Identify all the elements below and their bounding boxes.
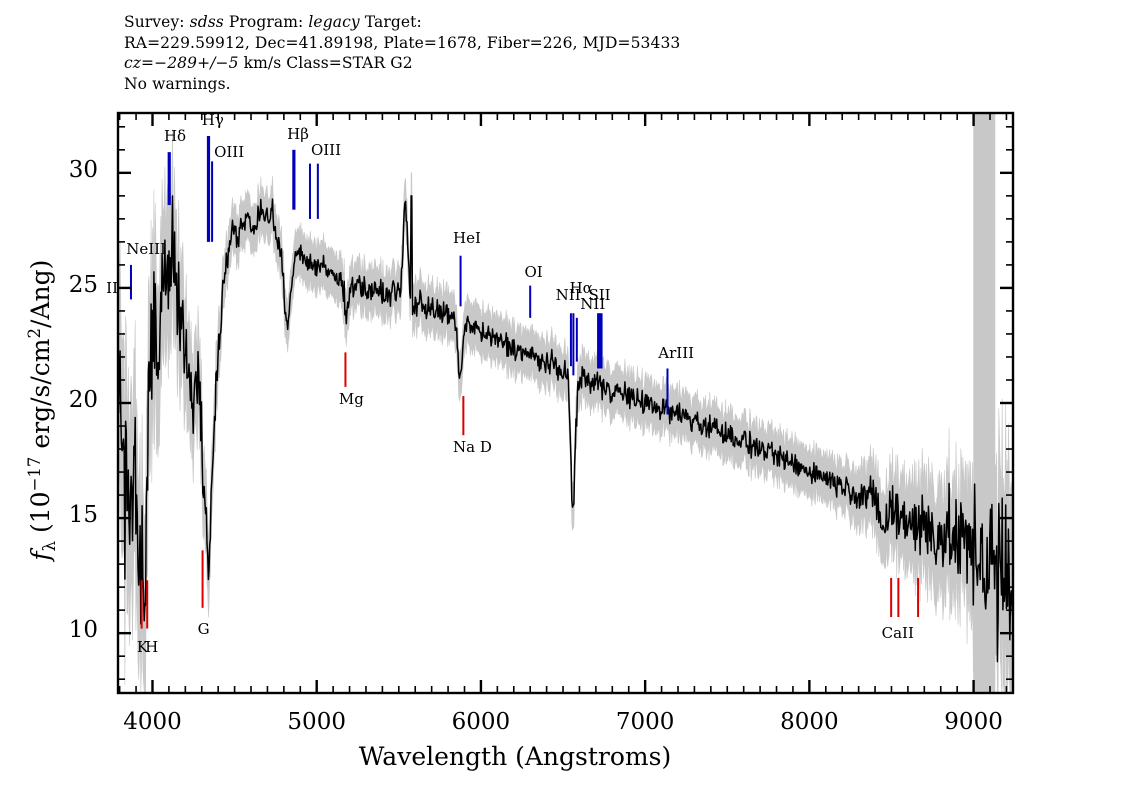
spectral-line-label-NeIII: NeIII [126, 240, 166, 258]
spectral-line-label-Mg: Mg [339, 390, 364, 408]
spectral-line-label-H: Hγ [202, 111, 224, 129]
spectral-line-label-SII: SII [588, 286, 610, 304]
y-tick-label: 15 [0, 502, 98, 528]
spectral-line-label-CaII: CaII [882, 624, 914, 642]
plot-frame [118, 113, 1013, 693]
x-tick-label: 8000 [764, 709, 854, 735]
spectral-line-label-NaD: Na D [453, 438, 492, 456]
x-axis-title: Wavelength (Angstroms) [0, 742, 1030, 771]
spectral-line-label-OIII: OIII [214, 143, 244, 161]
spectral-line-label-OI: OI [524, 263, 542, 281]
spectral-line-label-ArIII: ArIII [658, 344, 694, 362]
spectral-line-label-H: H [145, 638, 158, 656]
x-tick-label: 7000 [600, 709, 690, 735]
spectral-line-label-H: Hδ [164, 127, 186, 145]
y-tick-label: 25 [0, 272, 98, 298]
x-tick-label: 9000 [929, 709, 1019, 735]
error-band [118, 129, 1013, 692]
x-tick-label: 4000 [107, 709, 197, 735]
spectral-line-label-OIII: OIII [311, 141, 341, 159]
flux-curve [118, 196, 1013, 662]
y-tick-label: 20 [0, 387, 98, 413]
x-tick-label: 6000 [436, 709, 526, 735]
sky-band [973, 113, 995, 693]
spectral-line-label-G: G [198, 620, 210, 638]
x-tick-label: 5000 [272, 709, 362, 735]
y-tick-label: 30 [0, 157, 98, 183]
spectral-line-label-HeI: HeI [453, 229, 481, 247]
spectrum-plot [0, 0, 1134, 810]
spectrum-page: Survey: sdss Program: legacy Target: RA=… [0, 0, 1134, 810]
y-tick-label: 10 [0, 617, 98, 643]
spectral-line-label-II: II [106, 279, 118, 297]
spectrum-data-area [107, 113, 1012, 693]
spectral-line-label-H: Hβ [287, 125, 309, 143]
